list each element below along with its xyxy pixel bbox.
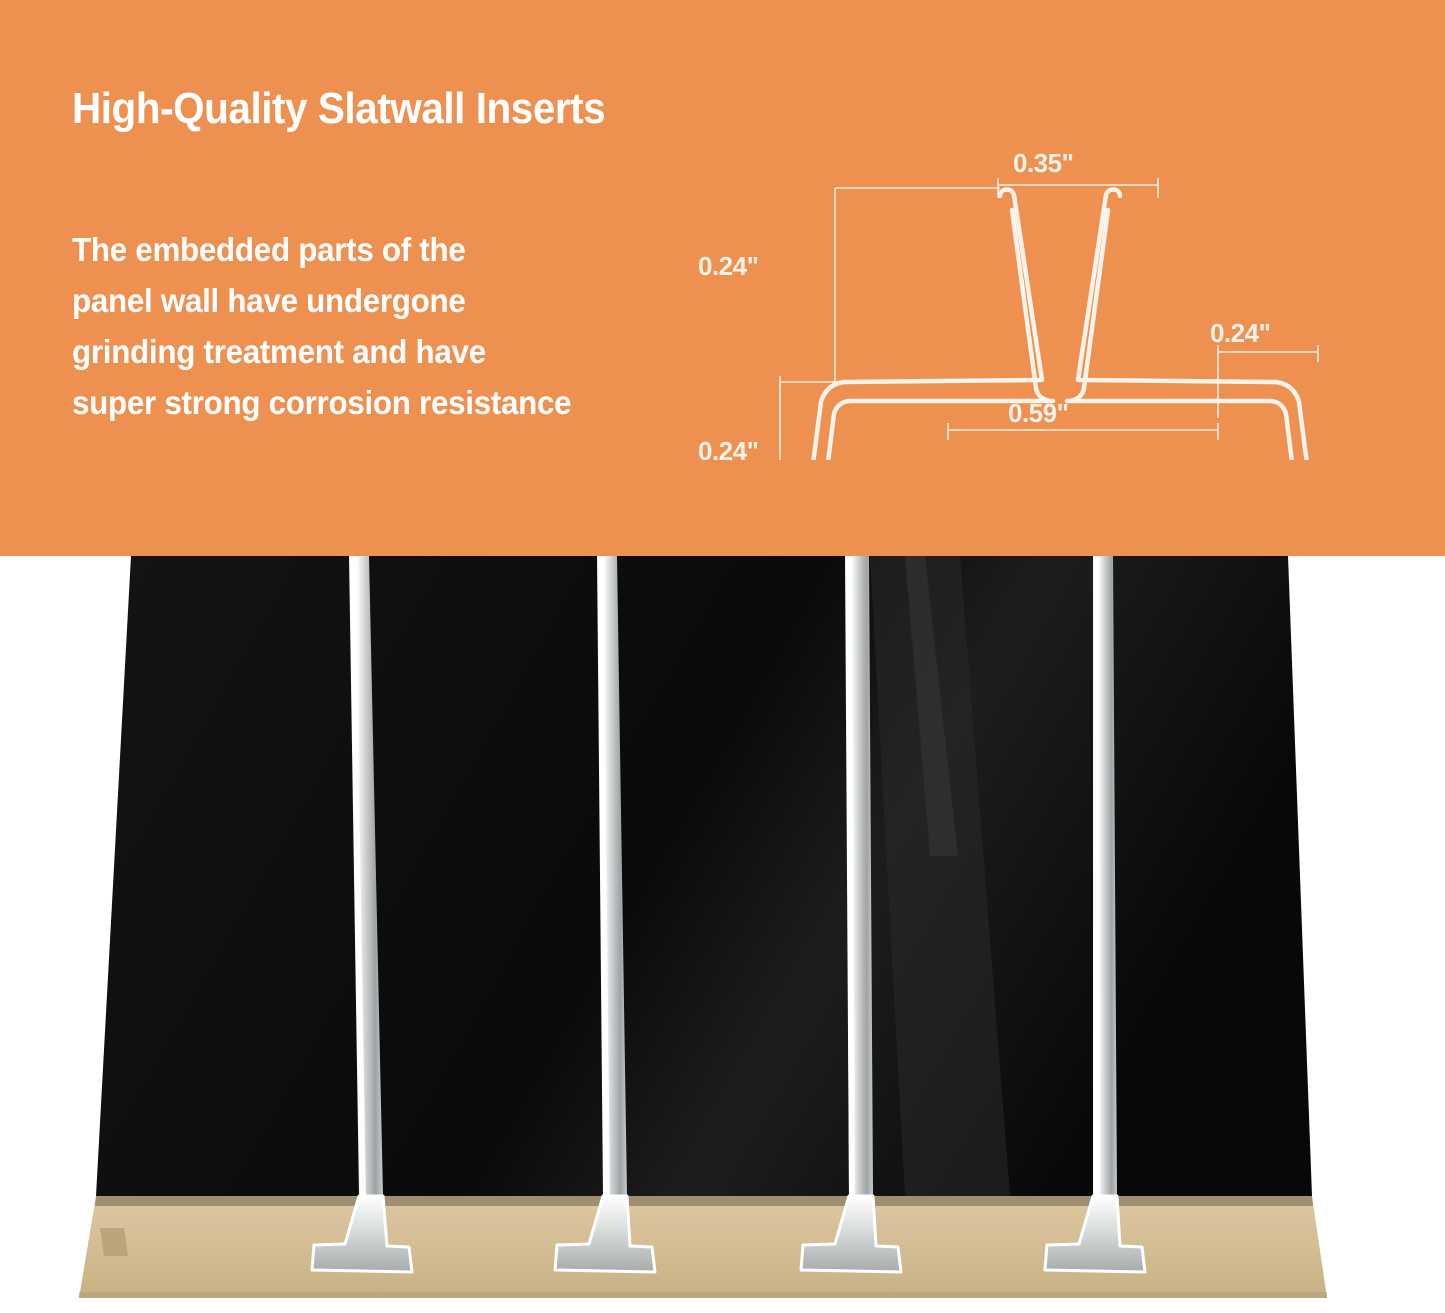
dim-top-flange-gap: 0.35" <box>1013 148 1073 178</box>
dimension-labels: 0.35" 0.24" 0.24" 0.24" 0.59" 1.2" 0.04" <box>698 148 1430 460</box>
cross-section-diagram: 0.35" 0.24" 0.24" 0.24" 0.59" 1.2" 0.04" <box>690 130 1430 460</box>
dim-lower-left-height: 0.24" <box>698 436 758 460</box>
slatwall-panel-face <box>96 556 1312 1196</box>
body-copy-line-3: grinding treatment and have <box>72 326 699 377</box>
dim-inner-base-width: 0.59" <box>1008 398 1068 428</box>
body-copy-line-4: super strong corrosion resistance <box>72 377 699 428</box>
product-photo <box>0 556 1445 1313</box>
substrate-notch <box>100 1228 128 1256</box>
dim-upper-left-height: 0.24" <box>698 251 758 281</box>
body-copy: The embedded parts of the panel wall hav… <box>72 224 699 428</box>
insert-strip-highlight <box>1094 556 1100 1196</box>
body-copy-line-1: The embedded parts of the <box>72 224 699 275</box>
orange-banner: High-Quality Slatwall Inserts The embedd… <box>0 0 1445 556</box>
dim-right-step: 0.24" <box>1210 318 1270 348</box>
dimension-lines <box>780 178 1362 460</box>
page-title: High-Quality Slatwall Inserts <box>72 84 605 134</box>
substrate-bottom-edge <box>79 1292 1327 1298</box>
substrate-top-shadow <box>95 1196 1313 1206</box>
body-copy-line-2: panel wall have undergone <box>72 275 699 326</box>
